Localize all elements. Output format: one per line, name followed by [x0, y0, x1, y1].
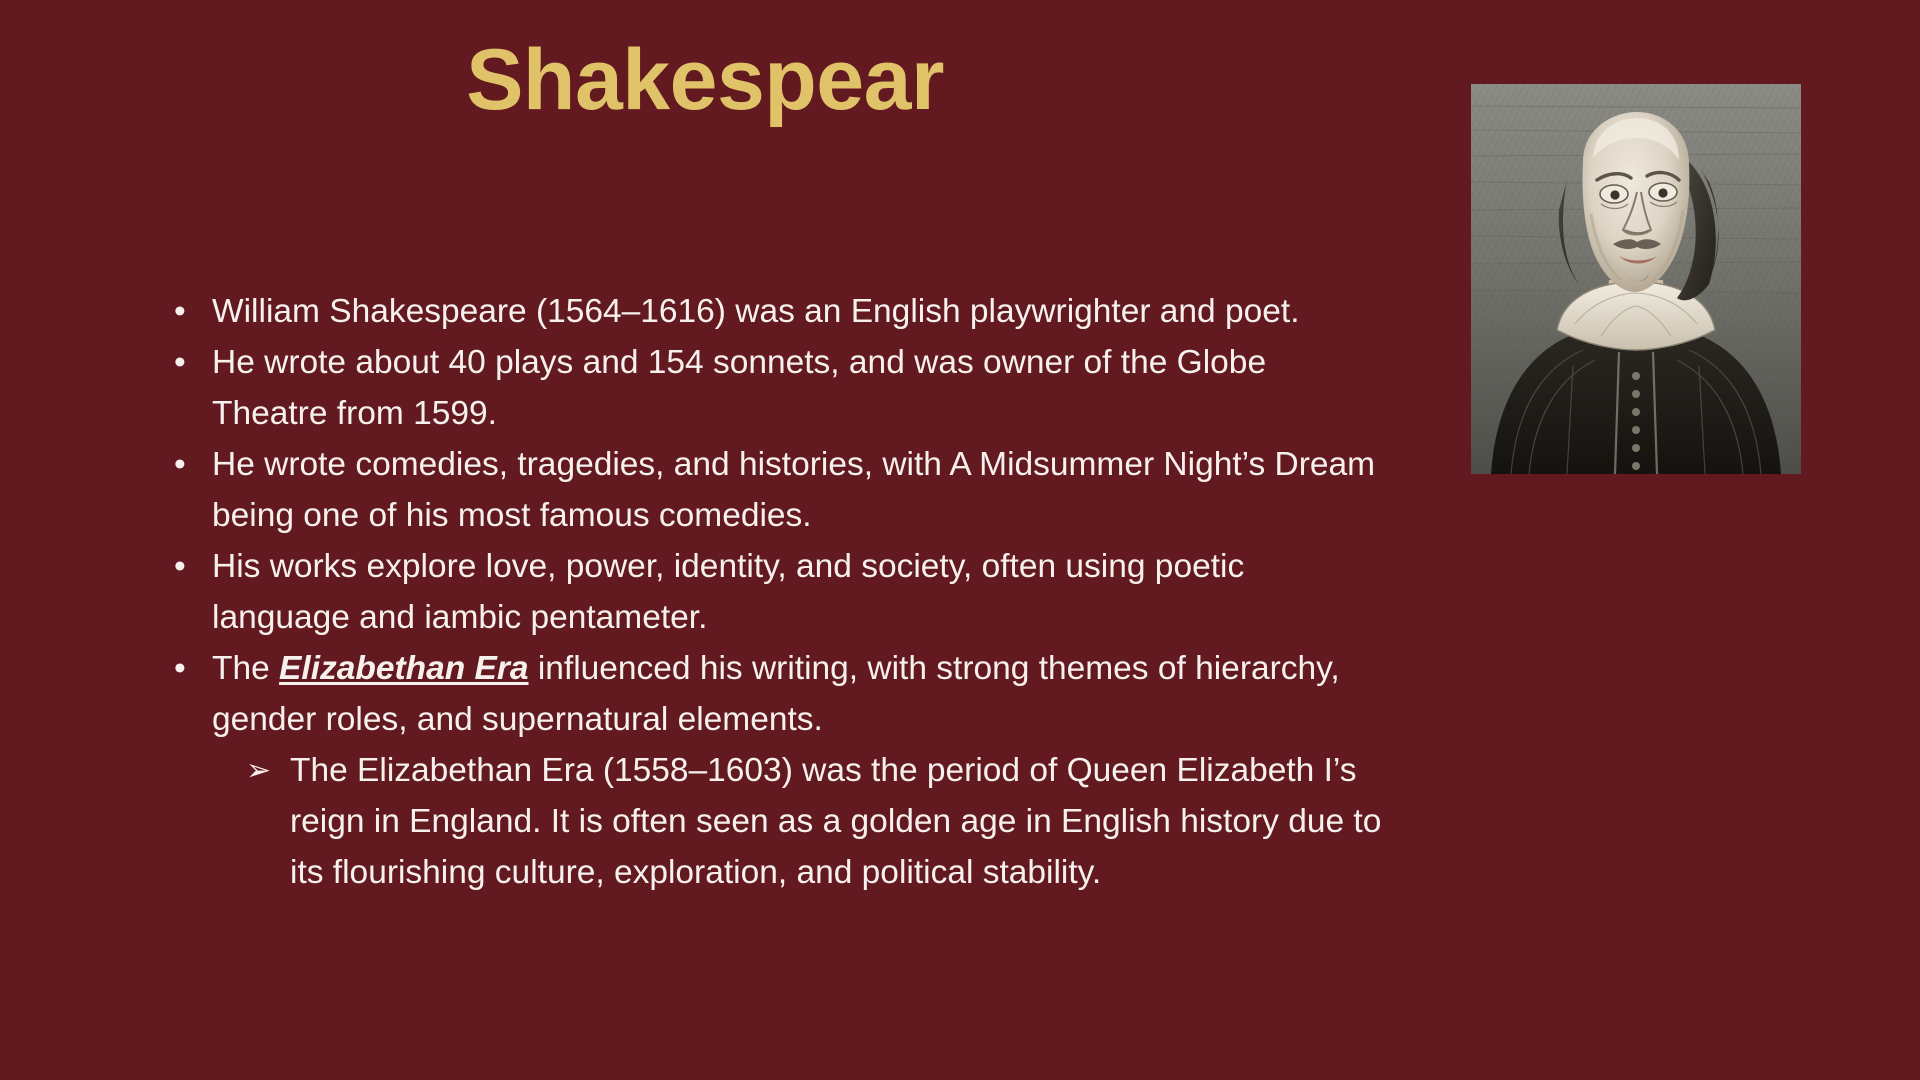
arrow-bullet-icon: ➢ [246, 745, 271, 796]
bullet-text: His works explore love, power, identity,… [212, 548, 1244, 636]
bullet-item: • He wrote about 40 plays and 154 sonnet… [160, 337, 1390, 439]
bullet-marker-icon: • [174, 337, 194, 388]
bullet-marker-icon: • [174, 643, 194, 694]
bullet-item: • His works explore love, power, identit… [160, 541, 1390, 643]
page-title: Shakespear [0, 34, 1410, 127]
emphasized-term-elizabethan-era: Elizabethan Era [279, 650, 528, 687]
sub-bullet-item: ➢ The Elizabethan Era (1558–1603) was th… [246, 745, 1390, 898]
bullet-item: • He wrote comedies, tragedies, and hist… [160, 439, 1390, 541]
bullet-marker-icon: • [174, 541, 194, 592]
slide: Shakespear [0, 0, 1920, 1080]
bullet-item: • The Elizabethan Era influenced his wri… [160, 643, 1390, 898]
bullet-text-before: The [212, 650, 279, 687]
portrait-illustration [1471, 84, 1801, 474]
shakespeare-portrait-image [1471, 84, 1801, 474]
bullet-text: He wrote comedies, tragedies, and histor… [212, 446, 1375, 534]
slide-body: • William Shakespeare (1564–1616) was an… [160, 286, 1390, 898]
sub-bullet-text: The Elizabethan Era (1558–1603) was the … [290, 752, 1381, 891]
sub-bullet-list: ➢ The Elizabethan Era (1558–1603) was th… [212, 745, 1390, 898]
bullet-text: William Shakespeare (1564–1616) was an E… [212, 293, 1300, 330]
bullet-marker-icon: • [174, 439, 194, 490]
bullet-text: He wrote about 40 plays and 154 sonnets,… [212, 344, 1266, 432]
bullet-list: • William Shakespeare (1564–1616) was an… [160, 286, 1390, 898]
bullet-item: • William Shakespeare (1564–1616) was an… [160, 286, 1390, 337]
bullet-marker-icon: • [174, 286, 194, 337]
